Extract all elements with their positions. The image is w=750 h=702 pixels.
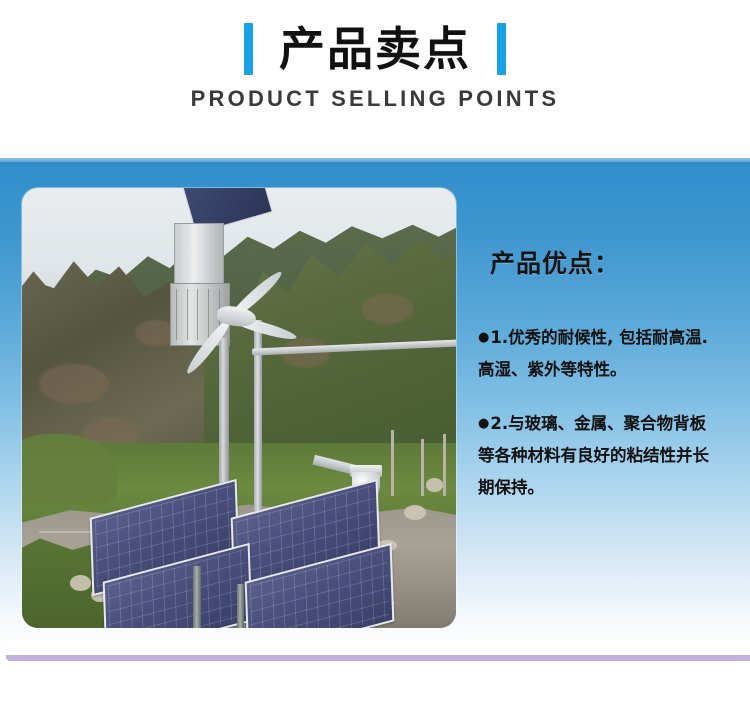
photo-fence-pole [421, 439, 424, 496]
product-selling-points-page: 产品卖点 PRODUCT SELLING POINTS [0, 0, 750, 702]
photo-rack-bar [208, 289, 209, 341]
advantages-heading: 产品优点： [490, 244, 620, 280]
page-subtitle-en: PRODUCT SELLING POINTS [0, 86, 750, 112]
photo-rock-patch [39, 364, 108, 404]
advantage-1-line2: 高湿、紫外等特性。 [478, 360, 627, 379]
accent-bar-left-icon [244, 23, 253, 75]
advantage-2-line1: 与玻璃、金属、聚合物背板 [508, 414, 706, 433]
photo-fence-pole [391, 430, 394, 496]
photo-rack-bar [176, 289, 177, 341]
advantage-2-line2: 等各种材料有良好的粘结性并长 [478, 446, 709, 465]
photo-stone [404, 505, 426, 520]
solar-wind-station-photo [22, 188, 456, 628]
photo-rack-bar [187, 289, 188, 341]
photo-fence-pole [443, 434, 446, 496]
photo-array-leg [237, 584, 244, 628]
bullet-icon: ● [478, 416, 489, 431]
product-photo-frame [22, 188, 456, 628]
advantage-2-line3: 期保持。 [478, 478, 544, 497]
bullet-icon: ● [478, 330, 489, 345]
photo-equipment-cabinet [174, 223, 224, 287]
advantage-item-2: ●2.与玻璃、金属、聚合物背板 等各种材料有良好的粘结性并长 期保持。 [478, 408, 740, 504]
photo-rack-bar [197, 289, 198, 341]
photo-array-leg [193, 566, 200, 628]
advantage-1-number: 1. [490, 328, 508, 347]
page-title-cn: 产品卖点 [279, 23, 471, 75]
page-footer-space [0, 661, 750, 702]
advantages-column: 产品优点： ●1.优秀的耐候性, 包括耐高温. 高湿、紫外等特性。 ●2.与玻璃… [478, 158, 740, 640]
accent-bar-right-icon [497, 23, 506, 75]
content-panel: 产品优点： ●1.优秀的耐候性, 包括耐高温. 高湿、紫外等特性。 ●2.与玻璃… [0, 158, 750, 640]
advantage-1-line1: 优秀的耐候性, 包括耐高温. [508, 328, 708, 347]
photo-stone [426, 478, 443, 491]
advantage-item-1: ●1.优秀的耐候性, 包括耐高温. 高湿、紫外等特性。 [478, 322, 740, 386]
photo-rock-patch [361, 294, 413, 325]
advantage-2-number: 2. [490, 414, 508, 433]
page-header: 产品卖点 PRODUCT SELLING POINTS [0, 0, 750, 150]
title-row: 产品卖点 [0, 18, 750, 80]
